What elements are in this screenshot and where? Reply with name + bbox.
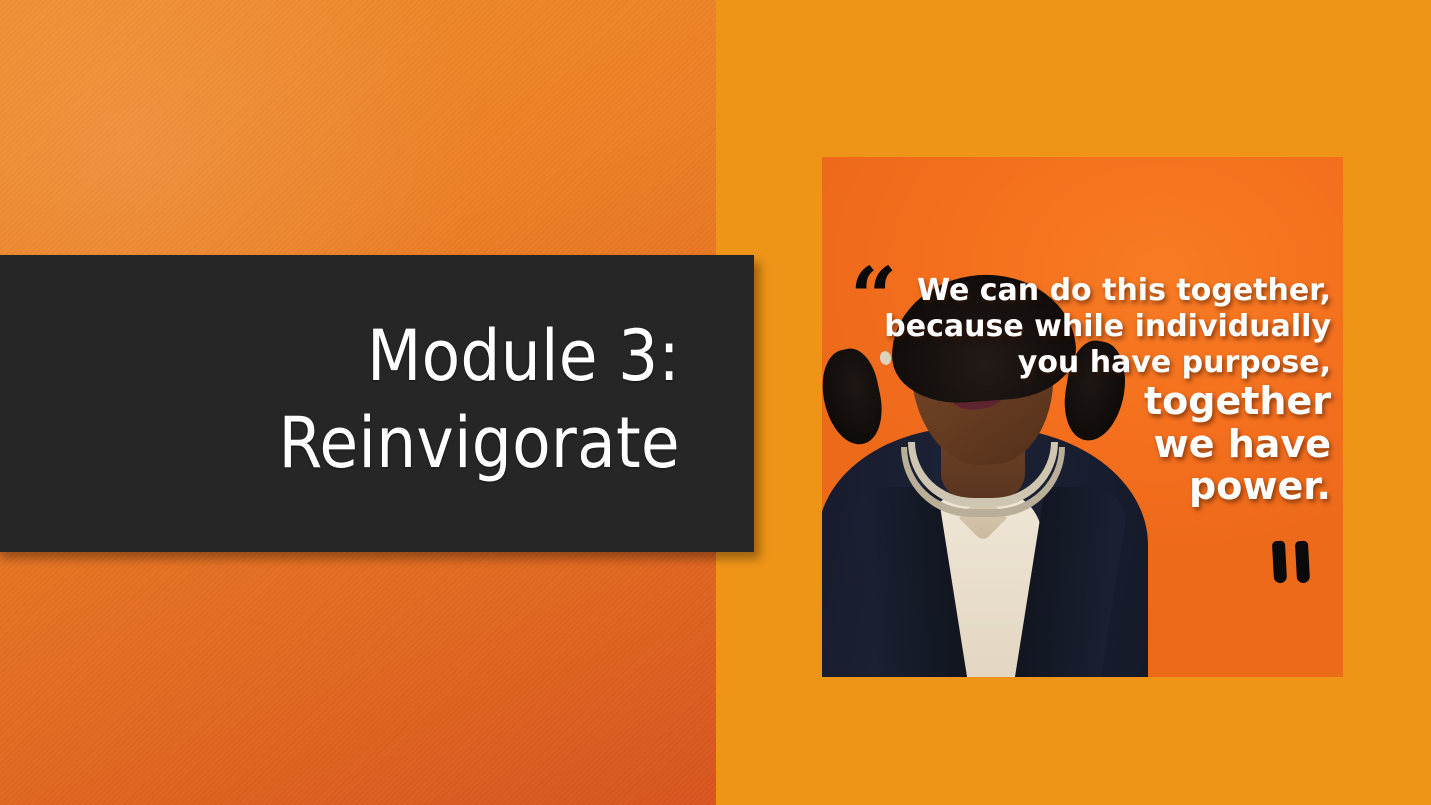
open-quote-icon: “	[850, 257, 891, 339]
quote-text: We can do this together, because while i…	[833, 275, 1337, 506]
close-quote-bar-right	[1295, 541, 1310, 584]
page-title: Module 3:Reinvigorate	[278, 313, 680, 487]
quote-line-1: We can do this together,	[833, 275, 1331, 311]
title-line-1: Module 3:	[367, 315, 680, 397]
quote-line-2: because while individually	[833, 311, 1331, 347]
title-line-2: Reinvigorate	[278, 402, 680, 484]
quote-line-6: power.	[833, 466, 1331, 506]
close-quote-bar-left	[1272, 541, 1287, 584]
title-block: Module 3:Reinvigorate	[0, 255, 754, 552]
close-quote-icon	[1271, 541, 1317, 583]
quote-line-5: we have	[833, 424, 1331, 466]
presentation-slide: Module 3:Reinvigorate	[0, 0, 1431, 805]
quote-line-3: you have purpose,	[833, 347, 1331, 382]
quote-image-card: “ We can do this together, because while…	[822, 157, 1343, 677]
quote-line-4: together	[833, 381, 1331, 423]
